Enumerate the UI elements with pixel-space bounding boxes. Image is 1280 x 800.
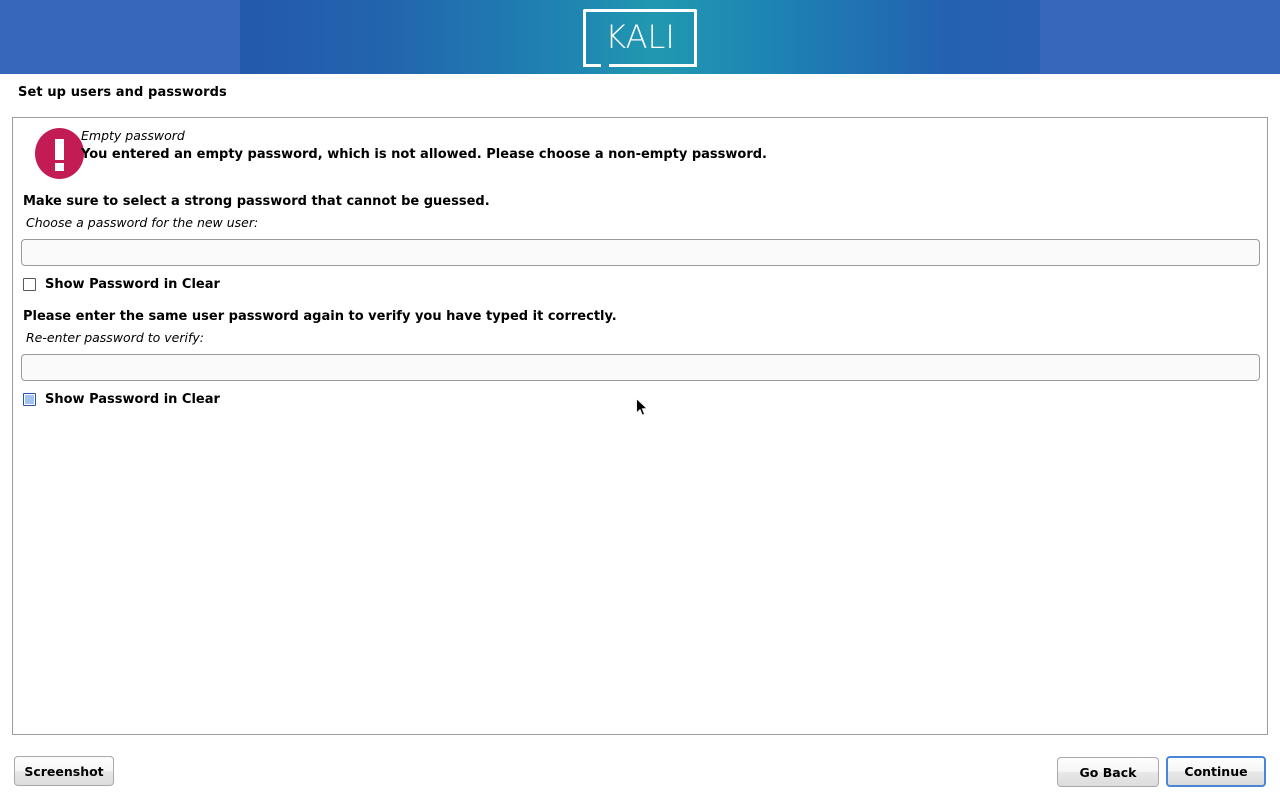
show-password-checkbox-1[interactable] <box>23 278 36 291</box>
password-field-label: Choose a password for the new user: <box>26 215 258 230</box>
kali-logo-icon: KALI <box>583 9 697 67</box>
password-input[interactable] <box>21 239 1260 266</box>
kali-header-banner: KALI <box>0 0 1280 74</box>
installer-screen: KALI Set up users and passwords Empty pa… <box>0 0 1280 800</box>
error-icon-dot <box>55 163 64 171</box>
kali-logo-wordmark: KALI <box>583 9 697 67</box>
screenshot-button[interactable]: Screenshot <box>14 756 114 786</box>
verify-field-label: Re-enter password to verify: <box>26 330 204 345</box>
main-content-panel: Empty password You entered an empty pass… <box>12 117 1268 735</box>
verify-password-input[interactable] <box>21 354 1260 381</box>
continue-button[interactable]: Continue <box>1166 756 1266 787</box>
error-icon-bar <box>55 139 64 160</box>
alert-message: You entered an empty password, which is … <box>81 147 767 162</box>
show-password-checkbox-row-2[interactable]: Show Password in Clear <box>23 392 220 407</box>
show-password-checkbox-2[interactable] <box>23 393 36 406</box>
error-exclamation-icon <box>35 128 84 179</box>
alert-title: Empty password <box>81 128 185 143</box>
verify-section-heading: Please enter the same user password agai… <box>23 309 617 324</box>
show-password-checkbox-row-1[interactable]: Show Password in Clear <box>23 277 220 292</box>
password-section-heading: Make sure to select a strong password th… <box>23 194 490 209</box>
go-back-button[interactable]: Go Back <box>1057 757 1159 787</box>
page-title: Set up users and passwords <box>18 85 227 100</box>
show-password-label-1: Show Password in Clear <box>45 277 220 292</box>
show-password-label-2: Show Password in Clear <box>45 392 220 407</box>
